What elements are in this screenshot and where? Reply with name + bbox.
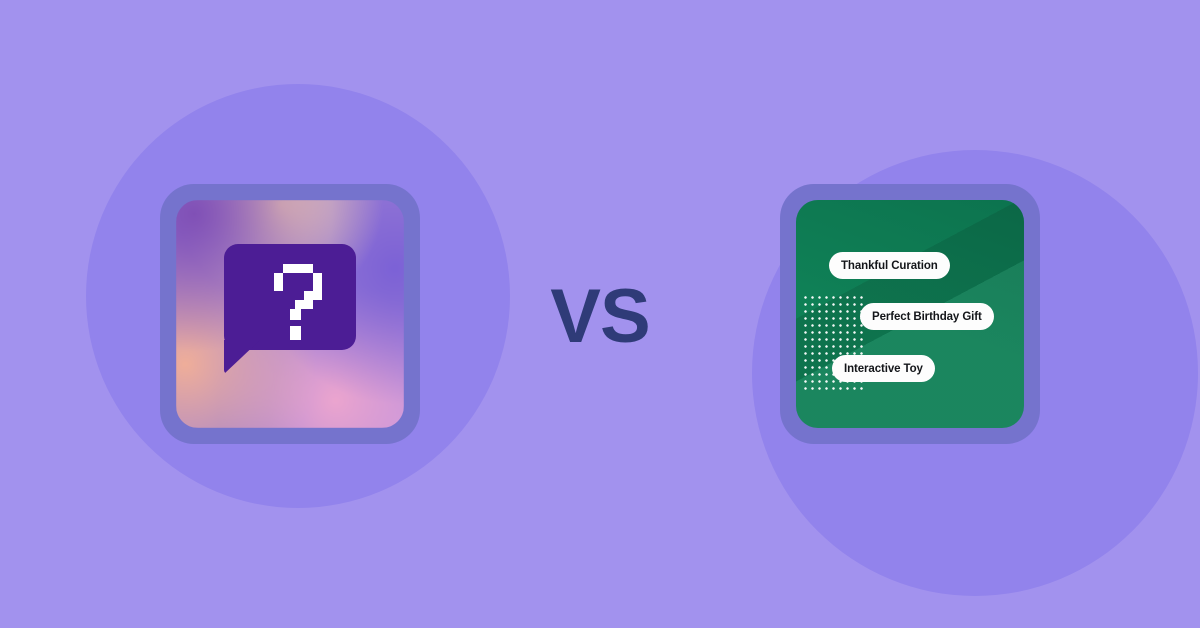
tag-chip[interactable]: Perfect Birthday Gift: [860, 303, 994, 330]
right-app-icon: Thankful Curation Perfect Birthday Gift …: [796, 200, 1024, 428]
tag-chip[interactable]: Thankful Curation: [829, 252, 950, 279]
comparison-banner: VS Thankful Curation Perfect Birthday Gi…: [0, 0, 1200, 628]
right-app-icon-frame[interactable]: Thankful Curation Perfect Birthday Gift …: [780, 184, 1040, 444]
tag-chip[interactable]: Interactive Toy: [832, 355, 935, 382]
